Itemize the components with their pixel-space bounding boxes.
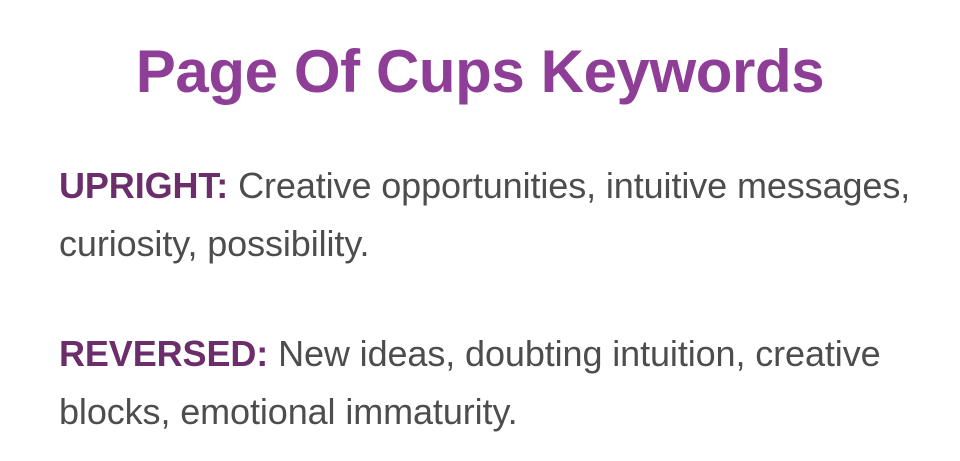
keyword-label-upright: UPRIGHT: [59, 165, 228, 206]
keywords-list: UPRIGHT: Creative opportunities, intuiti… [59, 157, 919, 441]
page-title: Page Of Cups Keywords [0, 36, 960, 108]
keywords-page: Page Of Cups Keywords UPRIGHT: Creative … [0, 0, 960, 461]
keyword-entry-reversed: REVERSED: New ideas, doubting intuition,… [59, 325, 919, 441]
keyword-entry-upright: UPRIGHT: Creative opportunities, intuiti… [59, 157, 919, 273]
keyword-label-reversed: REVERSED: [59, 333, 268, 374]
